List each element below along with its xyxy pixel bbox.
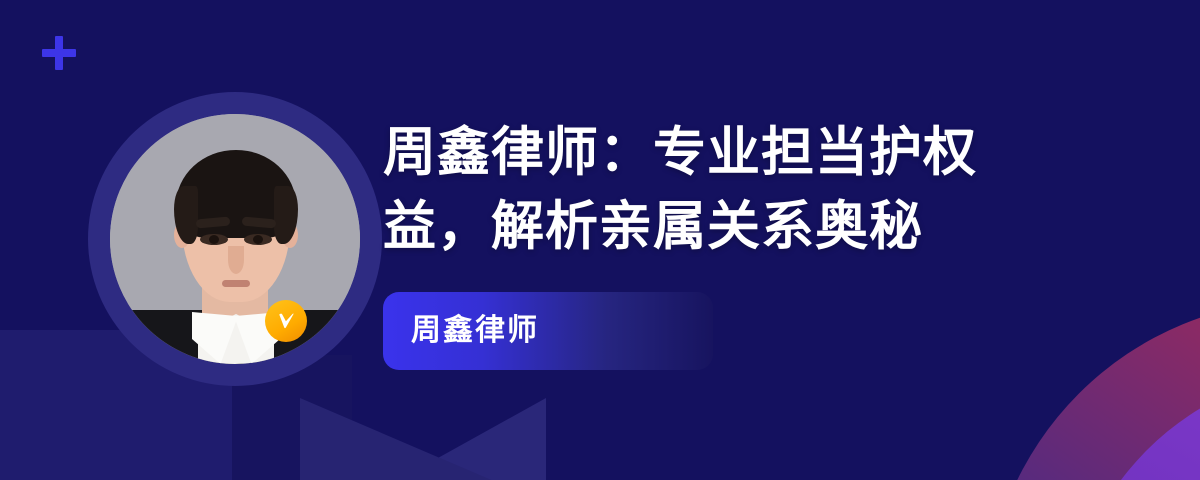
plus-icon: [42, 36, 76, 70]
avatar[interactable]: [88, 92, 382, 386]
page-title: 周鑫律师：专业担当护权 益，解析亲属关系奥秘: [383, 116, 1173, 264]
avatar-photo: [110, 114, 360, 364]
lawyer-name-badge[interactable]: 周鑫律师: [383, 292, 713, 370]
profile-banner: 周鑫律师：专业担当护权 益，解析亲属关系奥秘 周鑫律师: [0, 0, 1200, 480]
verified-v-icon: [265, 300, 307, 342]
text-block: 周鑫律师：专业担当护权 益，解析亲属关系奥秘 周鑫律师: [383, 116, 1173, 370]
